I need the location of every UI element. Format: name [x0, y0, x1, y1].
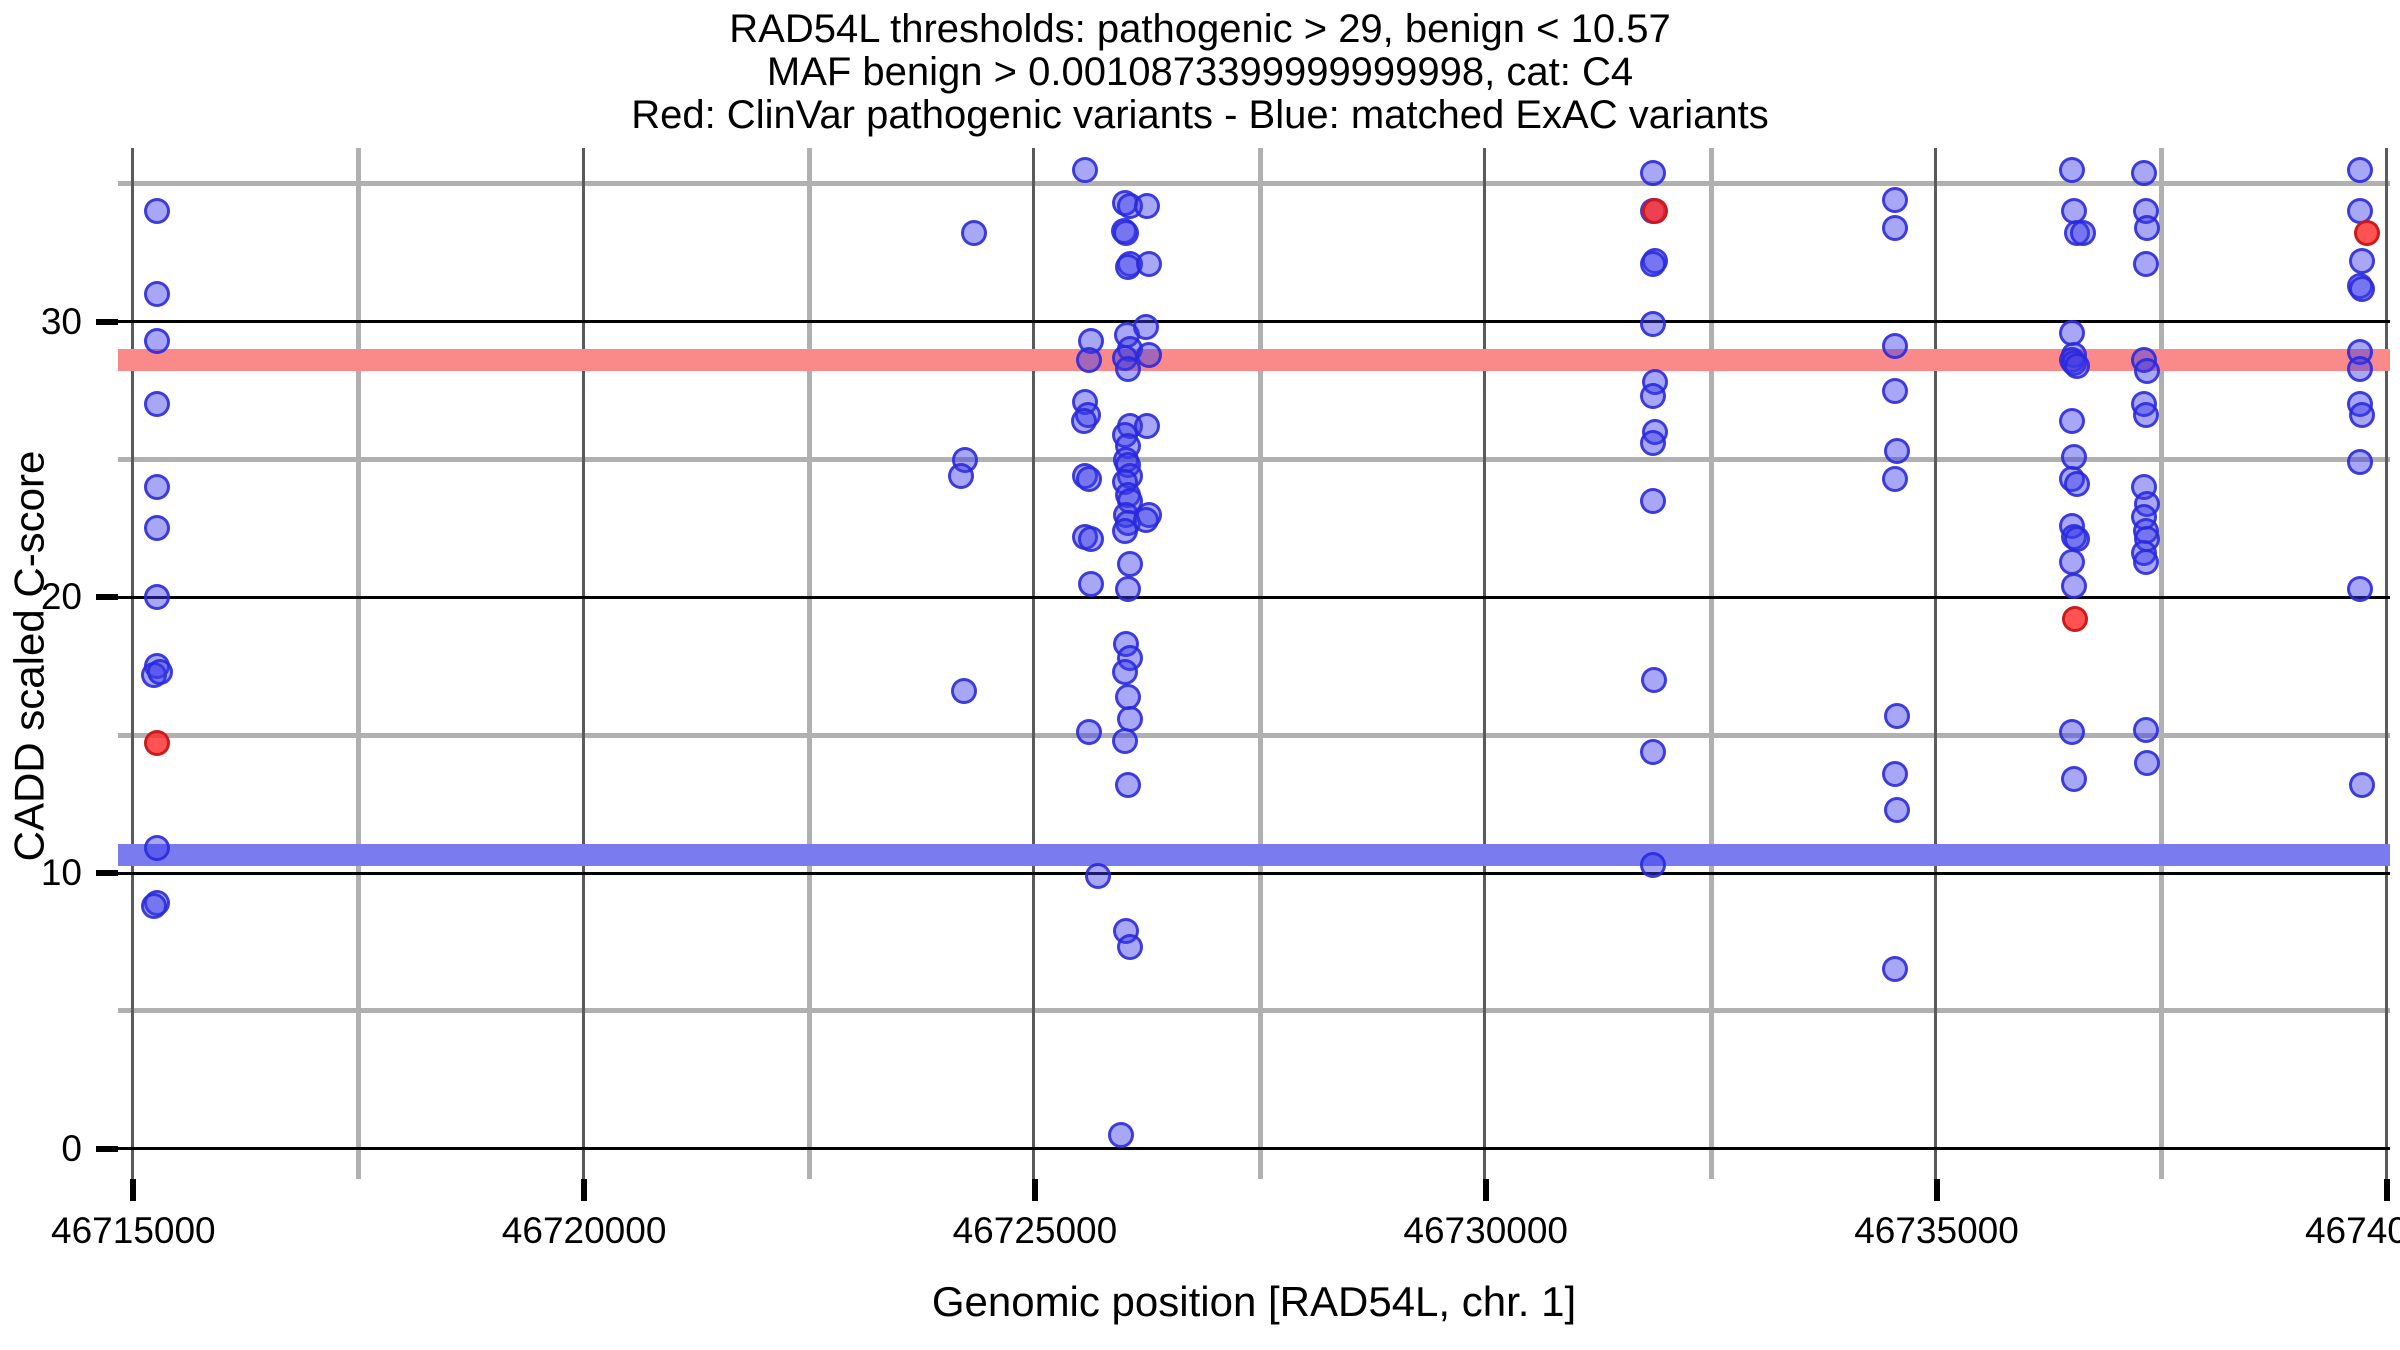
data-point-benign	[2349, 248, 2375, 274]
data-point-benign	[144, 391, 170, 417]
title-line-3: Red: ClinVar pathogenic variants - Blue:…	[0, 94, 2400, 137]
data-point-benign	[1115, 772, 1141, 798]
data-point-benign	[2059, 408, 2085, 434]
data-point-benign	[1640, 852, 1666, 878]
data-point-benign	[1076, 466, 1102, 492]
data-point-benign	[2133, 549, 2159, 575]
data-point-benign	[2347, 356, 2373, 382]
minor-gridline-vertical	[1258, 148, 1263, 1179]
data-point-pathogenic	[2354, 220, 2380, 246]
title-line-1: RAD54L thresholds: pathogenic > 29, beni…	[0, 8, 2400, 51]
data-point-benign	[1117, 551, 1143, 577]
major-gridline-vertical	[1483, 148, 1486, 1179]
x-tick-mark	[1032, 1179, 1038, 1201]
data-point-benign	[144, 198, 170, 224]
data-point-benign	[1133, 507, 1159, 533]
data-point-benign	[1076, 719, 1102, 745]
data-point-benign	[1078, 571, 1104, 597]
minor-gridline-vertical	[356, 148, 361, 1179]
data-point-benign	[144, 328, 170, 354]
axis-line-horizontal	[118, 320, 2390, 323]
data-point-benign	[1072, 157, 1098, 183]
data-point-benign	[2347, 157, 2373, 183]
data-point-benign	[1115, 576, 1141, 602]
x-tick-label: 46725000	[875, 1211, 1195, 1251]
y-tick-mark	[96, 594, 118, 600]
data-point-benign	[2059, 549, 2085, 575]
x-tick-label: 46730000	[1326, 1211, 1646, 1251]
data-point-benign	[2133, 717, 2159, 743]
data-point-pathogenic	[2062, 606, 2088, 632]
data-point-benign	[1113, 220, 1139, 246]
data-point-benign	[1640, 383, 1666, 409]
data-point-benign	[1884, 703, 1910, 729]
data-point-benign	[1640, 311, 1666, 337]
x-tick-label: 46720000	[424, 1211, 744, 1251]
y-axis-title: CADD scaled C-score	[6, 141, 54, 1172]
data-point-benign	[1085, 863, 1111, 889]
data-point-benign	[1136, 342, 1162, 368]
chart-figure: RAD54L thresholds: pathogenic > 29, beni…	[0, 0, 2400, 1350]
major-gridline-vertical	[2385, 148, 2388, 1179]
data-point-benign	[2134, 750, 2160, 776]
axis-line-horizontal	[118, 596, 2390, 599]
data-point-benign	[1133, 314, 1159, 340]
chart-title: RAD54L thresholds: pathogenic > 29, beni…	[0, 8, 2400, 137]
x-tick-mark	[581, 1179, 587, 1201]
x-tick-mark	[130, 1179, 136, 1201]
data-point-pathogenic	[144, 730, 170, 756]
data-point-benign	[2134, 358, 2160, 384]
data-point-benign	[2349, 276, 2375, 302]
data-point-benign	[1108, 1122, 1134, 1148]
minor-gridline-horizontal	[118, 1008, 2390, 1013]
data-point-benign	[2064, 471, 2090, 497]
data-point-benign	[1112, 659, 1138, 685]
data-point-benign	[1640, 251, 1666, 277]
data-point-benign	[1134, 193, 1160, 219]
title-line-2: MAF benign > 0.0010873399999999998, cat:…	[0, 51, 2400, 94]
x-tick-label: 46740000	[2227, 1211, 2400, 1251]
data-point-benign	[1882, 215, 1908, 241]
data-point-benign	[1882, 378, 1908, 404]
y-tick-mark	[96, 870, 118, 876]
data-point-benign	[1640, 488, 1666, 514]
threshold-band-benign	[118, 844, 2390, 866]
data-point-benign	[1640, 739, 1666, 765]
x-tick-mark	[1483, 1179, 1489, 1201]
data-point-benign	[2059, 157, 2085, 183]
x-axis-title: Genomic position [RAD54L, chr. 1]	[118, 1278, 2390, 1326]
x-tick-label: 46735000	[1777, 1211, 2097, 1251]
data-point-benign	[961, 220, 987, 246]
data-point-benign	[1078, 526, 1104, 552]
y-tick-mark	[96, 319, 118, 325]
minor-gridline-horizontal	[118, 733, 2390, 738]
data-point-benign	[1884, 797, 1910, 823]
axis-line-horizontal	[118, 1147, 2390, 1150]
data-point-benign	[1136, 251, 1162, 277]
data-point-benign	[2134, 215, 2160, 241]
data-point-benign	[2133, 251, 2159, 277]
data-point-benign	[1134, 413, 1160, 439]
data-point-benign	[951, 678, 977, 704]
plot-area	[118, 148, 2390, 1179]
x-tick-mark	[2384, 1179, 2390, 1201]
data-point-benign	[1884, 438, 1910, 464]
data-point-benign	[1071, 408, 1097, 434]
data-point-benign	[1640, 430, 1666, 456]
data-point-benign	[1882, 956, 1908, 982]
axis-line-horizontal	[118, 872, 2390, 875]
data-point-benign	[141, 893, 167, 919]
minor-gridline-horizontal	[118, 181, 2390, 186]
data-point-benign	[144, 515, 170, 541]
minor-gridline-vertical	[2159, 148, 2164, 1179]
data-point-benign	[1640, 160, 1666, 186]
y-tick-mark	[96, 1146, 118, 1152]
minor-gridline-vertical	[1709, 148, 1714, 1179]
data-point-benign	[1117, 934, 1143, 960]
major-gridline-vertical	[131, 148, 134, 1179]
data-point-benign	[948, 463, 974, 489]
data-point-benign	[1641, 667, 1667, 693]
data-point-benign	[1882, 466, 1908, 492]
data-point-benign	[144, 584, 170, 610]
data-point-pathogenic	[1642, 198, 1668, 224]
data-point-benign	[2059, 719, 2085, 745]
x-tick-mark	[1934, 1179, 1940, 1201]
data-point-benign	[2347, 449, 2373, 475]
data-point-benign	[2064, 353, 2090, 379]
data-point-benign	[1882, 761, 1908, 787]
data-point-benign	[2131, 160, 2157, 186]
data-point-benign	[2061, 766, 2087, 792]
x-tick-label: 46715000	[0, 1211, 293, 1251]
data-point-benign	[2349, 402, 2375, 428]
major-gridline-vertical	[1032, 148, 1035, 1179]
data-point-benign	[1882, 187, 1908, 213]
data-point-benign	[144, 281, 170, 307]
data-point-benign	[147, 659, 173, 685]
data-point-benign	[144, 474, 170, 500]
threshold-band-pathogenic	[118, 349, 2390, 371]
data-point-benign	[2349, 772, 2375, 798]
data-point-benign	[144, 835, 170, 861]
minor-gridline-horizontal	[118, 457, 2390, 462]
data-point-benign	[2133, 402, 2159, 428]
data-point-benign	[2070, 220, 2096, 246]
minor-gridline-vertical	[807, 148, 812, 1179]
major-gridline-vertical	[582, 148, 585, 1179]
data-point-benign	[1112, 728, 1138, 754]
major-gridline-vertical	[1934, 148, 1937, 1179]
